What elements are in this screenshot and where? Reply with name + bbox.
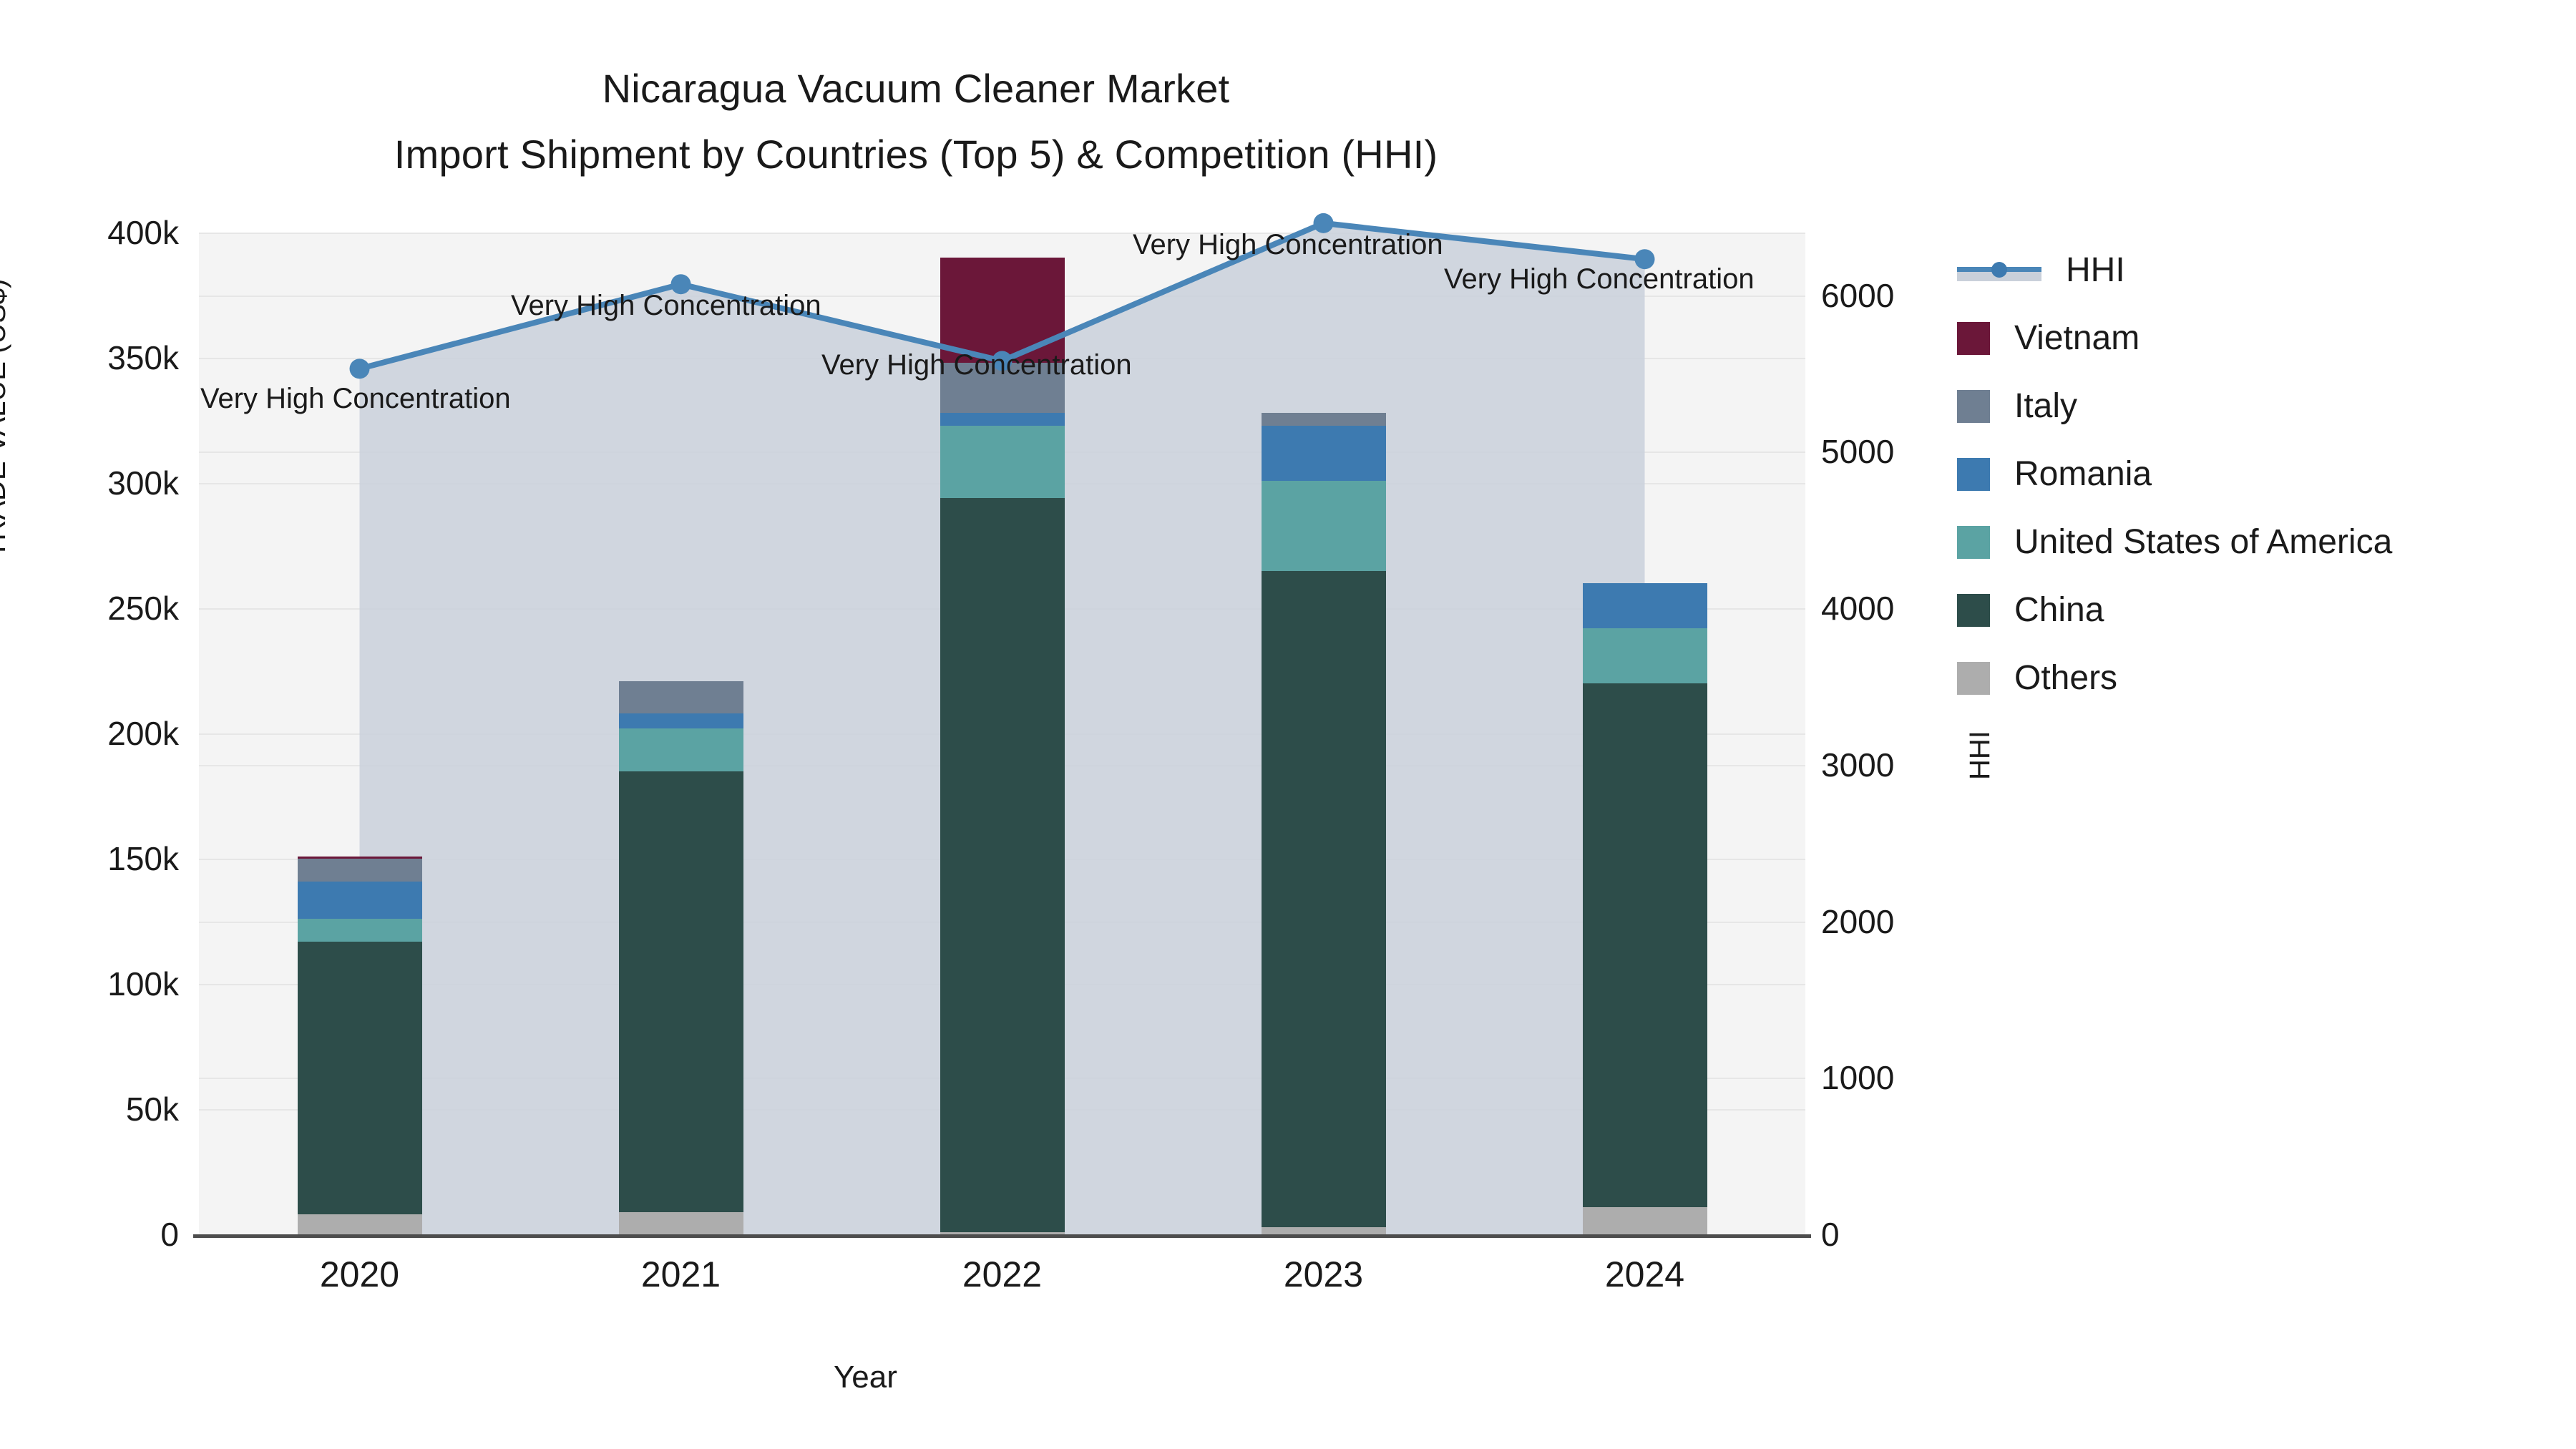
y-tick-right-6000: 6000 (1821, 276, 1964, 315)
legend-label: Italy (2014, 386, 2077, 426)
legend-label: HHI (2066, 250, 2125, 290)
y-axis-left-title: TRADE VALUE (US$) (0, 279, 12, 558)
chart-root: Nicaragua Vacuum Cleaner Market Import S… (0, 0, 2576, 1449)
legend-swatch-icon (1957, 390, 1990, 423)
annotation-concentration-2023: Very High Concentration (1133, 229, 1443, 261)
y-tick-left-50k: 50k (0, 1090, 179, 1128)
x-tick-2020: 2020 (260, 1254, 460, 1295)
annotation-concentration-2024: Very High Concentration (1444, 263, 1755, 296)
legend-item-united-states-of-america[interactable]: United States of America (1957, 508, 2392, 576)
x-tick-2022: 2022 (902, 1254, 1103, 1295)
y-tick-right-5000: 5000 (1821, 432, 1964, 471)
y-tick-right-0: 0 (1821, 1215, 1964, 1254)
legend-item-hhi[interactable]: HHI (1957, 236, 2392, 304)
chart-title-line-1: Nicaragua Vacuum Cleaner Market (0, 56, 1832, 122)
legend-label: Romania (2014, 454, 2152, 494)
legend-item-vietnam[interactable]: Vietnam (1957, 304, 2392, 372)
legend-swatch-icon (1957, 526, 1990, 559)
chart-legend: HHIVietnamItalyRomaniaUnited States of A… (1957, 236, 2392, 712)
legend-label: Others (2014, 658, 2117, 698)
annotation-concentration-2020: Very High Concentration (200, 383, 511, 415)
x-tick-2024: 2024 (1545, 1254, 1745, 1295)
y-tick-left-200k: 200k (0, 714, 179, 753)
annotation-concentration-2022: Very High Concentration (821, 349, 1132, 381)
hhi-marker-2020[interactable] (350, 358, 370, 379)
legend-line-dot-icon (1991, 262, 2007, 278)
x-tick-2021: 2021 (581, 1254, 781, 1295)
y-tick-left-400k: 400k (0, 213, 179, 252)
legend-swatch-icon (1957, 594, 1990, 627)
x-axis-title: Year (834, 1360, 897, 1395)
x-axis-line (193, 1234, 1811, 1238)
y-axis-right-title: HHI (1964, 731, 1996, 780)
y-tick-left-150k: 150k (0, 839, 179, 878)
legend-swatch-icon (1957, 322, 1990, 355)
y-tick-left-250k: 250k (0, 589, 179, 628)
y-tick-left-0: 0 (0, 1215, 179, 1254)
chart-title-line-2: Import Shipment by Countries (Top 5) & C… (0, 122, 1832, 187)
legend-item-others[interactable]: Others (1957, 644, 2392, 712)
legend-marker-line-icon (1957, 254, 2041, 287)
legend-label: China (2014, 590, 2104, 630)
legend-label: Vietnam (2014, 318, 2140, 358)
y-tick-right-1000: 1000 (1821, 1058, 1964, 1097)
legend-item-romania[interactable]: Romania (1957, 440, 2392, 508)
chart-title: Nicaragua Vacuum Cleaner Market Import S… (0, 56, 1832, 187)
y-tick-right-3000: 3000 (1821, 746, 1964, 784)
annotation-concentration-2021: Very High Concentration (511, 290, 821, 322)
y-tick-left-350k: 350k (0, 338, 179, 377)
legend-item-china[interactable]: China (1957, 576, 2392, 644)
legend-label: United States of America (2014, 522, 2392, 562)
legend-swatch-icon (1957, 662, 1990, 695)
y-tick-right-4000: 4000 (1821, 589, 1964, 628)
y-tick-left-300k: 300k (0, 464, 179, 502)
legend-swatch-icon (1957, 458, 1990, 491)
y-tick-right-2000: 2000 (1821, 902, 1964, 941)
x-tick-2023: 2023 (1224, 1254, 1424, 1295)
legend-item-italy[interactable]: Italy (1957, 372, 2392, 440)
y-tick-left-100k: 100k (0, 965, 179, 1003)
